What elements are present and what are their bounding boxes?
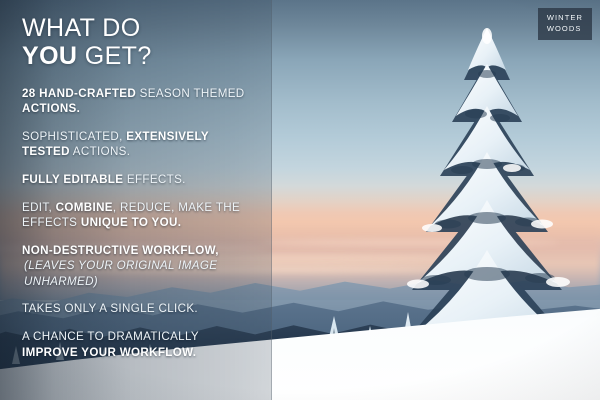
headline-emphasis: YOU [22, 42, 77, 70]
feature-text-1: A CHANCE TO DRAMATICALLY [22, 330, 199, 343]
feature-bold-3: UNIQUE TO YOU. [81, 216, 181, 229]
feature-list: 28 HAND-CRAFTED SEASON THEMED ACTIONS. S… [22, 86, 256, 360]
promo-copy: WHAT DO YOU GET? 28 HAND-CRAFTED SEASON … [0, 0, 272, 400]
headline-line-2-rest: GET? [85, 42, 152, 70]
feature-text-2: ACTIONS. [70, 145, 130, 158]
feature-non-destructive-workflow: NON-DESTRUCTIVE WORKFLOW,(LEAVES YOUR OR… [22, 243, 256, 289]
feature-text-1: SOPHISTICATED, [22, 130, 126, 143]
page-title: WHAT DO YOU GET? [22, 14, 256, 70]
feature-unique-to-you: EDIT, COMBINE, REDUCE, MAKE THE EFFECTS … [22, 200, 256, 231]
feature-text-1: EDIT, [22, 201, 56, 214]
feature-text-1: EFFECTS. [123, 173, 185, 186]
feature-bold-2: ACTIONS. [22, 102, 80, 115]
feature-extensively-tested: SOPHISTICATED, EXTENSIVELY TESTED ACTION… [22, 129, 256, 160]
headline-line-1: WHAT DO [22, 14, 141, 42]
feature-single-click: TAKES ONLY A SINGLE CLICK. [22, 301, 256, 316]
feature-italic-note: (LEAVES YOUR ORIGINAL IMAGE UNHARMED) [22, 258, 256, 289]
feature-improve-workflow: A CHANCE TO DRAMATICALLY IMPROVE YOUR WO… [22, 329, 256, 360]
feature-bold-1: FULLY EDITABLE [22, 173, 123, 186]
feature-text-1: TAKES ONLY A SINGLE CLICK. [22, 302, 198, 315]
promo-banner: WHAT DO YOU GET? 28 HAND-CRAFTED SEASON … [0, 0, 600, 400]
feature-bold-2: COMBINE [56, 201, 113, 214]
feature-bold-1: 28 HAND-CRAFTED [22, 87, 136, 100]
feature-text-1: SEASON THEMED [136, 87, 244, 100]
feature-fully-editable: FULLY EDITABLE EFFECTS. [22, 172, 256, 187]
product-badge: WINTER WOODS [538, 8, 592, 40]
badge-line-2: WOODS [547, 24, 583, 35]
badge-line-1: WINTER [547, 13, 583, 24]
feature-bold-1: NON-DESTRUCTIVE WORKFLOW, [22, 244, 219, 257]
feature-bold-2: IMPROVE YOUR WORKFLOW. [22, 346, 196, 359]
feature-hand-crafted-actions: 28 HAND-CRAFTED SEASON THEMED ACTIONS. [22, 86, 256, 117]
